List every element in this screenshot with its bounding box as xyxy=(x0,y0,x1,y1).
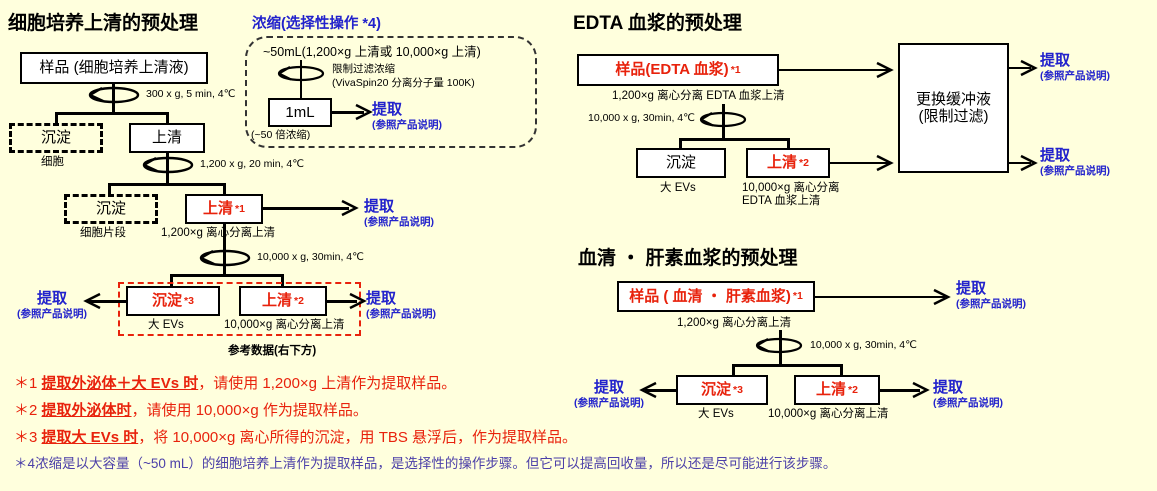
edta-extract-bottom: 提取 (参照产品说明) xyxy=(1040,147,1110,177)
centrifuge-icon xyxy=(275,64,327,83)
extract-title: 提取 xyxy=(1040,52,1110,70)
concentrate-fold-note: (~50 倍浓缩) xyxy=(251,129,310,142)
cell-culture-pellet3-caption: 大 EVs xyxy=(148,318,184,332)
centrifuge-icon xyxy=(140,155,196,175)
cell-culture-extract-left: 提取 (参照产品说明) xyxy=(17,290,87,320)
edta-sup-box: 上清*2 xyxy=(746,148,830,178)
edta-buffer-label-line1: 更换缓冲液 xyxy=(916,91,991,108)
extract-title: 提取 xyxy=(372,101,442,119)
extract-title: 提取 xyxy=(1040,147,1110,165)
footnote-3: ＊3 提取大 EVs 时，将 10,000×g 离心所得的沉淀，用 TBS 悬浮… xyxy=(14,429,836,447)
reference-data-label: 参考数据(右下方) xyxy=(228,342,316,358)
arrow-icon xyxy=(348,292,368,310)
serum-sample-caption: 1,200×g 离心分离上清 xyxy=(677,316,791,330)
connector-h xyxy=(732,364,842,367)
serum-extract-right: 提取 (参照产品说明) xyxy=(933,379,1003,409)
footnote-3-rest: ，将 10,000×g 离心所得的沉淀，用 TBS 悬浮后，作为提取样品。 xyxy=(138,429,577,446)
cell-culture-sup2-caption: 1,200×g 离心分离上清 xyxy=(161,226,275,240)
extract-sub: (参照产品说明) xyxy=(372,119,442,131)
extract-title: 提取 xyxy=(933,379,1003,397)
extract-title: 提取 xyxy=(364,198,434,216)
cell-culture-sup1-label: 上清 xyxy=(152,129,182,146)
arrow-icon xyxy=(911,381,931,399)
serum-sample-mark: *1 xyxy=(793,290,803,302)
connector-v xyxy=(223,256,226,276)
footnotes: ＊1 提取外泌体＋大 EVs 时，请使用 1,200×g 上清作为提取样品。 ＊… xyxy=(14,375,836,481)
footnote-2-bold: 提取外泌体时 xyxy=(42,402,132,419)
footnote-2-mark: ＊2 xyxy=(14,402,37,419)
edta-sample-caption: 1,200×g 离心分离 EDTA 血浆上清 xyxy=(612,89,785,103)
concentrate-output-label: 1mL xyxy=(285,104,314,121)
cell-culture-pellet1-caption: 细胞 xyxy=(41,155,64,169)
concentrate-filter-note-line2: (VivaSpin20 分离分子量 100K) xyxy=(332,77,475,90)
extract-sub: (参照产品说明) xyxy=(956,298,1026,310)
connector-h xyxy=(779,69,889,71)
cell-culture-panel-title: 细胞培养上清的预处理 xyxy=(8,8,198,35)
extract-sub: (参照产品说明) xyxy=(17,308,87,320)
serum-sample-box: 样品 ( 血清 ・ 肝素血浆)*1 xyxy=(617,281,815,312)
edta-panel-title: EDTA 血浆的预处理 xyxy=(573,8,742,35)
footnote-3-bold: 提取大 EVs 时 xyxy=(42,429,139,446)
edta-sup-label: 上清 xyxy=(767,154,797,171)
cell-culture-pellet3-box: 沉淀*3 xyxy=(126,286,220,316)
edta-sample-mark: *1 xyxy=(731,64,741,76)
connector-h xyxy=(263,207,349,210)
serum-extract-top: 提取 (参照产品说明) xyxy=(956,280,1026,310)
edta-sample-box: 样品(EDTA 血浆)*1 xyxy=(577,54,779,86)
serum-sup-mark: *2 xyxy=(848,384,858,396)
cell-culture-sup2-mark: *1 xyxy=(235,203,245,215)
cell-culture-sup3-mark: *2 xyxy=(294,295,304,307)
concentrate-output-box: 1mL xyxy=(268,98,332,127)
concentrate-volume-label: ~50mL(1,200×g 上清或 10,000×g 上清) xyxy=(263,45,481,61)
edta-buffer-label-line2: (限制过滤) xyxy=(919,108,989,125)
edta-pellet-label: 沉淀 xyxy=(666,154,696,171)
cell-culture-spin2-label: 1,200 x g, 20 min, 4℃ xyxy=(200,158,304,170)
cell-culture-pellet1-box: 沉淀 xyxy=(9,123,103,153)
cell-culture-spin3-label: 10,000 x g, 30min, 4℃ xyxy=(257,251,364,263)
footnote-4: ＊4浓缩是以大容量（~50 mL）的细胞培养上清作为提取样品，是选择性的操作步骤… xyxy=(14,456,836,472)
concentrate-extract: 提取 (参照产品说明) xyxy=(372,101,442,131)
cell-culture-extract-1: 提取 (参照产品说明) xyxy=(364,198,434,228)
connector-h xyxy=(679,138,789,141)
cell-culture-pellet3-label: 沉淀 xyxy=(152,292,182,309)
edta-pellet-box: 沉淀 xyxy=(636,148,726,178)
footnote-4-mark: ＊4 xyxy=(14,456,35,471)
cell-culture-pellet1-label: 沉淀 xyxy=(41,129,71,146)
extract-title: 提取 xyxy=(366,290,436,308)
arrow-icon xyxy=(875,154,895,172)
centrifuge-icon xyxy=(697,110,749,129)
arrow-icon xyxy=(354,103,374,121)
footnote-1-rest: ，请使用 1,200×g 上清作为提取样品。 xyxy=(198,375,456,392)
extract-sub: (参照产品说明) xyxy=(933,397,1003,409)
edta-buffer-exchange-box: 更换缓冲液 (限制过滤) xyxy=(898,43,1009,173)
concentrate-filter-note-line1: 限制过滤浓缩 xyxy=(332,63,395,76)
footnote-2: ＊2 提取外泌体时，请使用 10,000×g 作为提取样品。 xyxy=(14,402,836,420)
footnote-1-mark: ＊1 xyxy=(14,375,37,392)
connector-h xyxy=(108,183,225,186)
connector-h xyxy=(55,112,169,115)
serum-panel-title: 血清 ・ 肝素血浆的预处理 xyxy=(578,243,798,270)
footnote-4-rest: 浓缩是以大容量（~50 mL）的细胞培养上清作为提取样品，是选择性的操作步骤。但… xyxy=(35,456,836,471)
extract-title: 提取 xyxy=(956,280,1026,298)
edta-sample-label: 样品(EDTA 血浆) xyxy=(615,61,728,78)
extract-sub: (参照产品说明) xyxy=(1040,165,1110,177)
cell-culture-spin1-label: 300 x g, 5 min, 4℃ xyxy=(146,88,235,100)
footnote-1: ＊1 提取外泌体＋大 EVs 时，请使用 1,200×g 上清作为提取样品。 xyxy=(14,375,836,393)
serum-sample-label: 样品 ( 血清 ・ 肝素血浆) xyxy=(629,288,791,305)
cell-culture-pellet2-box: 沉淀 xyxy=(64,194,158,224)
cell-culture-extract-right: 提取 (参照产品说明) xyxy=(366,290,436,320)
connector-h xyxy=(815,296,945,298)
edta-extract-top: 提取 (参照产品说明) xyxy=(1040,52,1110,82)
serum-spin-label: 10,000 x g, 30min, 4℃ xyxy=(810,339,917,351)
extract-title: 提取 xyxy=(17,290,87,308)
arrow-icon xyxy=(1019,59,1039,77)
cell-culture-sup1-box: 上清 xyxy=(129,123,205,153)
cell-culture-pellet2-label: 沉淀 xyxy=(96,200,126,217)
edta-sup-caption-line2: EDTA 血浆上清 xyxy=(742,194,820,208)
cell-culture-sample-label: 样品 (细胞培养上清液) xyxy=(39,59,188,76)
cell-culture-pellet2-caption: 细胞片段 xyxy=(80,226,126,240)
extract-sub: (参照产品说明) xyxy=(366,308,436,320)
cell-culture-sup2-label: 上清 xyxy=(203,200,233,217)
centrifuge-icon xyxy=(753,336,805,355)
cell-culture-sup3-label: 上清 xyxy=(262,292,292,309)
edta-spin-label: 10,000 x g, 30min, 4℃ xyxy=(588,112,695,124)
extract-sub: (参照产品说明) xyxy=(364,216,434,228)
concentrate-section-title: 浓缩(选择性操作 *4) xyxy=(252,12,381,33)
cell-culture-pellet3-mark: *3 xyxy=(184,295,194,307)
footnote-2-rest: ，请使用 10,000×g 作为提取样品。 xyxy=(132,402,368,419)
arrow-icon xyxy=(932,288,952,306)
footnote-3-mark: ＊3 xyxy=(14,429,37,446)
cell-culture-sup2-box: 上清*1 xyxy=(185,194,263,224)
cell-culture-sample-box: 样品 (细胞培养上清液) xyxy=(20,52,208,84)
cell-culture-sup3-box: 上清*2 xyxy=(239,286,327,316)
extract-sub: (参照产品说明) xyxy=(1040,70,1110,82)
arrow-icon xyxy=(340,199,360,217)
arrow-icon xyxy=(875,61,895,79)
connector-h xyxy=(170,274,283,277)
footnote-1-bold: 提取外泌体＋大 EVs 时 xyxy=(42,375,199,392)
edta-sup-mark: *2 xyxy=(799,157,809,169)
edta-pellet-caption: 大 EVs xyxy=(660,181,696,195)
arrow-icon xyxy=(1019,154,1039,172)
cell-culture-sup3-caption: 10,000×g 离心分离上清 xyxy=(224,318,344,332)
centrifuge-icon xyxy=(86,85,142,105)
